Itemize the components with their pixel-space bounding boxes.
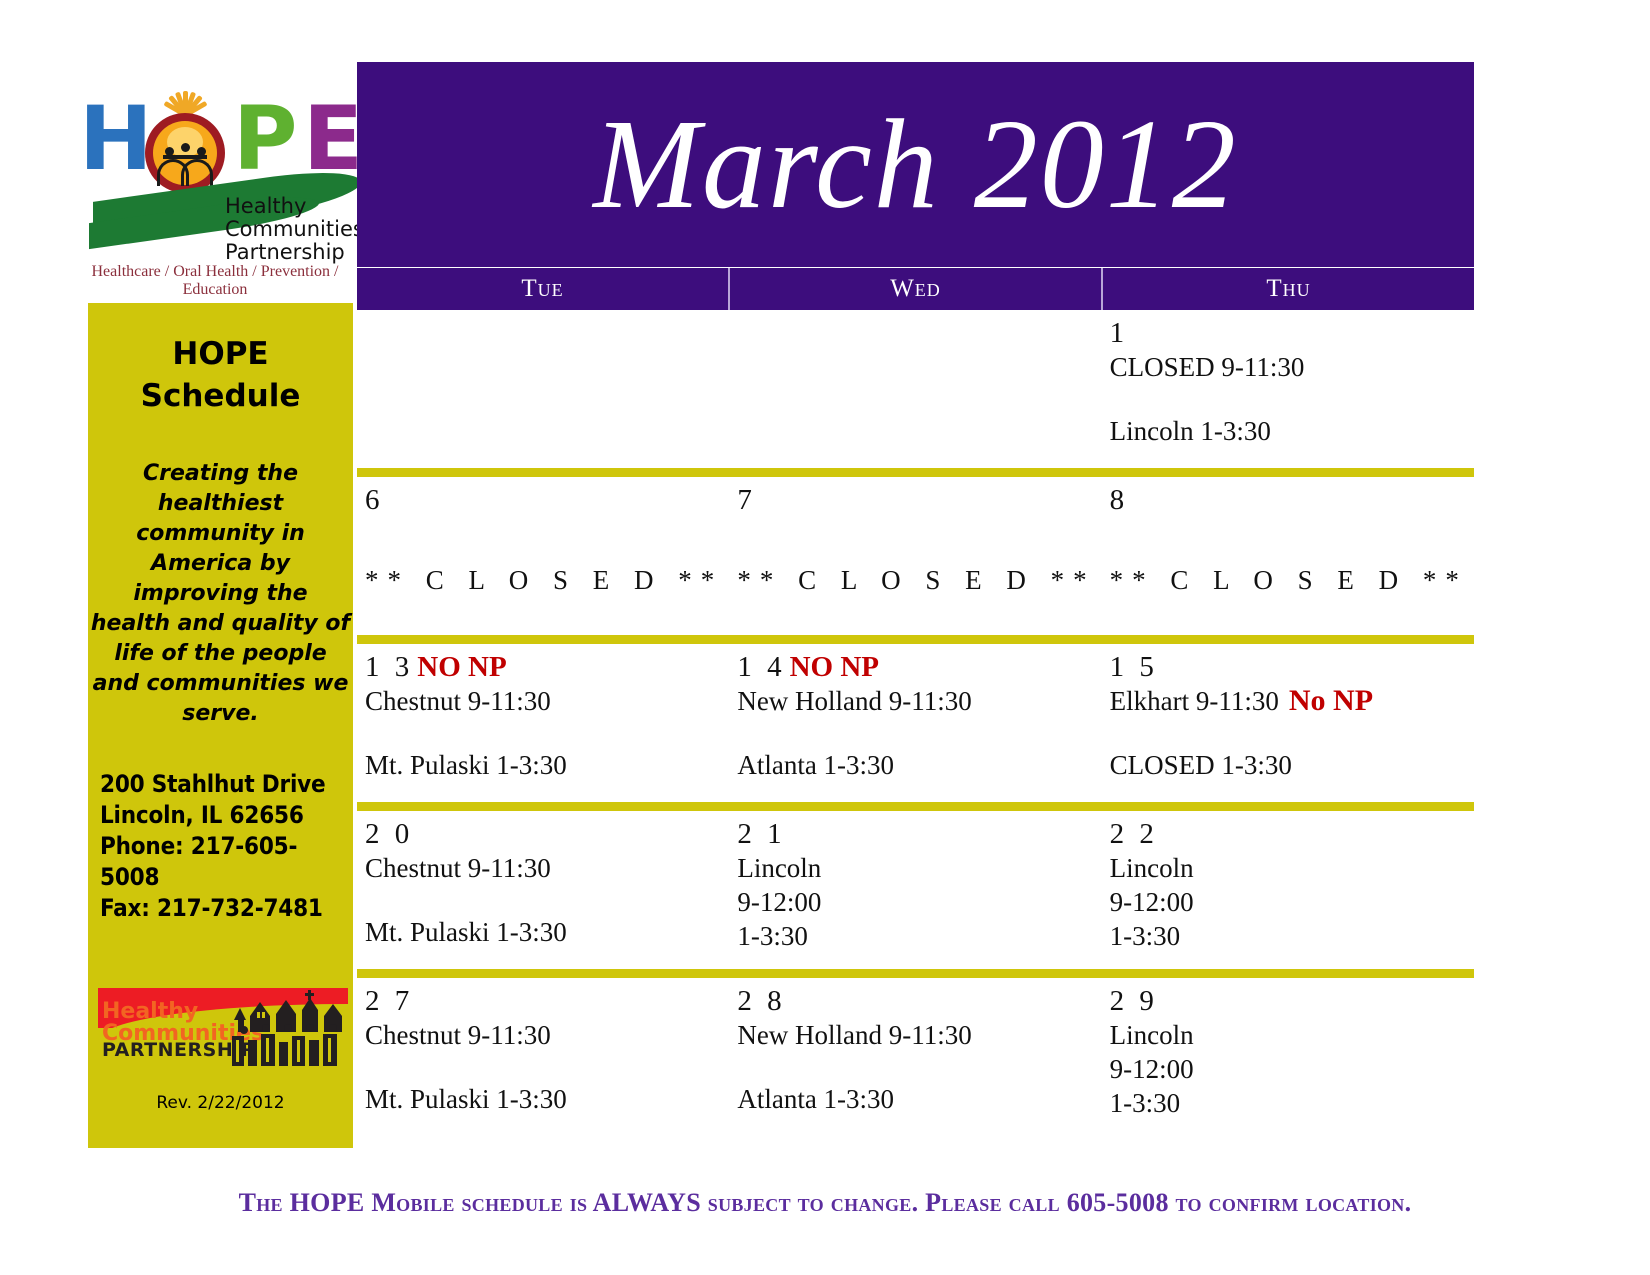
healthy-communities-partnership-logo: Healthy Communities PARTNERSHIP xyxy=(98,988,348,1066)
day-number: 1 4 xyxy=(737,650,785,684)
calendar-day-13[interactable]: 1 3NO NPChestnut 9-11:30Mt. Pulaski 1-3:… xyxy=(357,644,729,802)
day-event: CLOSED 1-3:30 xyxy=(1110,748,1474,782)
calendar-day-22[interactable]: 2 2Lincoln9-12:001-3:30 xyxy=(1102,811,1474,969)
address-line: Lincoln, IL 62656 xyxy=(100,800,353,831)
day-number: 2 2 xyxy=(1110,817,1158,851)
address-line: 200 Stahlhut Drive xyxy=(100,769,353,800)
dow-thu: Thu xyxy=(1101,268,1474,310)
no-np-badge-inline: No NP xyxy=(1289,684,1373,717)
day-number: 2 7 xyxy=(365,984,413,1018)
day-number: 2 0 xyxy=(365,817,413,851)
day-number: 2 9 xyxy=(1110,984,1158,1018)
day-event: Chestnut 9-11:30 xyxy=(365,851,729,885)
day-event: 9-12:00 xyxy=(737,885,1101,919)
day-event: Mt. Pulaski 1-3:30 xyxy=(365,748,729,782)
hope-logo: H P E Healthy Communities Partnership He… xyxy=(75,95,355,285)
calendar-week-row: 2 0Chestnut 9-11:30Mt. Pulaski 1-3:302 1… xyxy=(357,802,1474,969)
calendar-week-row: 6** C L O S E D **7** C L O S E D **8** … xyxy=(357,468,1474,635)
day-event: CLOSED 9-11:30 xyxy=(1110,350,1474,384)
day-number: 6 xyxy=(365,483,384,517)
city-skyline-icon xyxy=(230,990,348,1066)
day-event: Lincoln 1-3:30 xyxy=(1110,414,1474,448)
logo-letter-e: E xyxy=(303,95,363,183)
day-event: Atlanta 1-3:30 xyxy=(737,1082,1101,1116)
sidebar-motto: Creating the healthiest community in Ame… xyxy=(88,459,353,729)
address-line: Fax: 217-732-7481 xyxy=(100,893,353,924)
day-event: 1-3:30 xyxy=(1110,919,1474,953)
dow-wed: Wed xyxy=(728,268,1101,310)
page-title: March 2012 xyxy=(357,62,1474,267)
calendar-day-6[interactable]: 6** C L O S E D ** xyxy=(357,477,729,635)
calendar-week-row: 1CLOSED 9-11:30Lincoln 1-3:30 xyxy=(357,310,1474,468)
day-of-week-header: Tue Wed Thu xyxy=(357,268,1474,310)
calendar-day-14[interactable]: 1 4NO NPNew Holland 9-11:30Atlanta 1-3:3… xyxy=(729,644,1101,802)
calendar-day-empty[interactable] xyxy=(357,310,729,468)
sidebar-address: 200 Stahlhut DriveLincoln, IL 62656Phone… xyxy=(88,769,353,924)
day-event: Mt. Pulaski 1-3:30 xyxy=(365,915,729,949)
calendar-day-7[interactable]: 7** C L O S E D ** xyxy=(729,477,1101,635)
hcp-line1: Healthy xyxy=(102,1000,198,1023)
day-event: New Holland 9-11:30 xyxy=(737,684,1101,718)
sun-people-icon xyxy=(133,97,237,197)
calendar-grid: 1CLOSED 9-11:30Lincoln 1-3:306** C L O S… xyxy=(357,310,1474,1136)
day-event: 9-12:00 xyxy=(1110,885,1474,919)
closed-notice: ** C L O S E D ** xyxy=(1110,565,1474,596)
calendar-day-1[interactable]: 1CLOSED 9-11:30Lincoln 1-3:30 xyxy=(1102,310,1474,468)
calendar-day-27[interactable]: 2 7Chestnut 9-11:30Mt. Pulaski 1-3:30 xyxy=(357,978,729,1136)
calendar-week-row: 1 3NO NPChestnut 9-11:30Mt. Pulaski 1-3:… xyxy=(357,635,1474,802)
footer-notice: The HOPE Mobile schedule is ALWAYS subje… xyxy=(0,1188,1650,1218)
calendar-day-29[interactable]: 2 9Lincoln9-12:001-3:30 xyxy=(1102,978,1474,1136)
day-number: 1 5 xyxy=(1110,650,1158,684)
calendar-day-8[interactable]: 8** C L O S E D ** xyxy=(1102,477,1474,635)
calendar-day-15[interactable]: 1 5Elkhart 9-11:30No NPCLOSED 1-3:30 xyxy=(1102,644,1474,802)
calendar-day-20[interactable]: 2 0Chestnut 9-11:30Mt. Pulaski 1-3:30 xyxy=(357,811,729,969)
day-number: 7 xyxy=(737,483,756,517)
sidebar: HOPE Schedule Creating the healthiest co… xyxy=(88,303,353,1148)
day-event: Elkhart 9-11:30No NP xyxy=(1110,684,1474,718)
revision-label: Rev. 2/22/2012 xyxy=(88,1093,353,1113)
address-line: Phone: 217-605-5008 xyxy=(100,831,353,893)
sidebar-title: HOPE Schedule xyxy=(88,333,353,417)
calendar-day-28[interactable]: 2 8New Holland 9-11:30Atlanta 1-3:30 xyxy=(729,978,1101,1136)
calendar-day-21[interactable]: 2 1Lincoln9-12:001-3:30 xyxy=(729,811,1101,969)
day-event: 9-12:00 xyxy=(1110,1052,1474,1086)
month-banner: March 2012 xyxy=(357,62,1474,267)
day-event: 1-3:30 xyxy=(737,919,1101,953)
day-event: Mt. Pulaski 1-3:30 xyxy=(365,1082,729,1116)
closed-notice: ** C L O S E D ** xyxy=(737,565,1101,596)
day-number: 2 1 xyxy=(737,817,785,851)
logo-letter-p: P xyxy=(233,95,298,183)
dow-tue: Tue xyxy=(357,268,728,310)
day-number: 1 xyxy=(1110,316,1129,350)
no-np-badge: NO NP xyxy=(417,651,506,683)
closed-notice: ** C L O S E D ** xyxy=(365,565,729,596)
logo-tagline: Healthcare / Oral Health / Prevention / … xyxy=(75,263,355,299)
day-number: 2 8 xyxy=(737,984,785,1018)
day-number: 8 xyxy=(1110,483,1129,517)
day-event: Atlanta 1-3:30 xyxy=(737,748,1101,782)
day-event: Lincoln xyxy=(1110,1018,1474,1052)
day-event: 1-3:30 xyxy=(1110,1086,1474,1120)
day-number: 1 3 xyxy=(365,650,413,684)
day-event: Lincoln xyxy=(1110,851,1474,885)
day-event: New Holland 9-11:30 xyxy=(737,1018,1101,1052)
no-np-badge: NO NP xyxy=(790,651,879,683)
logo-subtitle: Healthy Communities Partnership xyxy=(225,195,365,264)
calendar-week-row: 2 7Chestnut 9-11:30Mt. Pulaski 1-3:302 8… xyxy=(357,969,1474,1136)
calendar-day-empty[interactable] xyxy=(729,310,1101,468)
day-event: Chestnut 9-11:30 xyxy=(365,684,729,718)
day-event: Chestnut 9-11:30 xyxy=(365,1018,729,1052)
day-event: Lincoln xyxy=(737,851,1101,885)
